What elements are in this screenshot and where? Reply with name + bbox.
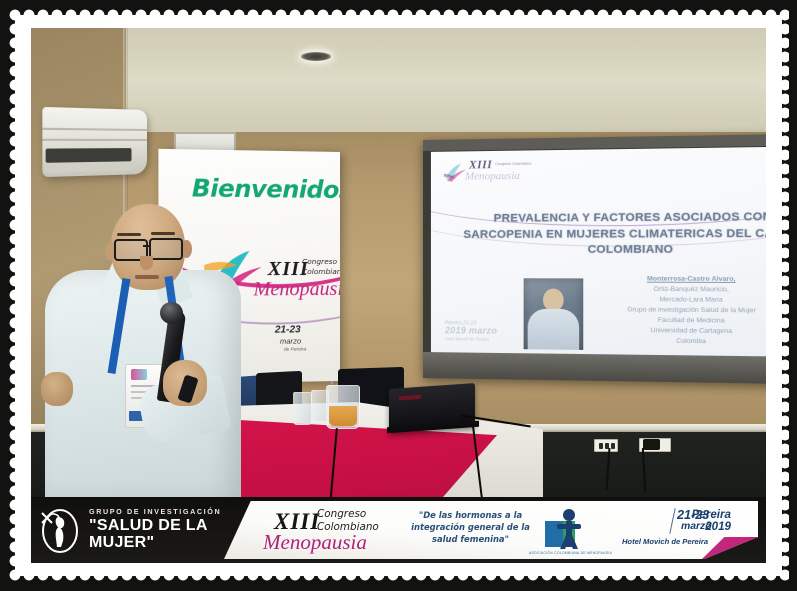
- laptop: [389, 383, 475, 433]
- ceiling-light-icon: [301, 52, 331, 61]
- banner-month: marzo: [280, 336, 301, 345]
- event-banner: GRUPO DE INVESTIGACIÓN "SALUD DE LA MUJE…: [31, 497, 766, 563]
- association-logo-icon: [541, 507, 587, 551]
- slide-date-year: 2019 marzo: [445, 325, 536, 336]
- juice-pitcher: [326, 385, 360, 429]
- slide-authors: Monterrosa-Castro Alvaro, Ortiz-Banquéz …: [583, 274, 766, 348]
- author-affiliation: Colombia: [583, 336, 766, 349]
- speaker-eyebrow: [117, 233, 141, 236]
- speaker-eyebrow: [151, 232, 175, 235]
- slide-logo-menopausia: Menopausia: [465, 170, 520, 183]
- event-month: marzo: [681, 521, 712, 532]
- speaker: [45, 204, 241, 504]
- conference-photo: Bienvenidos XIII CongresoColombiano Meno…: [31, 28, 766, 563]
- banner-menopausia: Menopausia: [254, 278, 340, 301]
- presentation-slide: XIII Congreso Colombiano Menopausia PREV…: [431, 147, 766, 357]
- slide-logo: XIII Congreso Colombiano Menopausia: [443, 157, 560, 189]
- wall-outlet: [594, 439, 618, 452]
- ac-vent-icon: [46, 148, 132, 163]
- banner-slogan: "De las hormonas a la integración genera…: [404, 510, 537, 546]
- projection-screen: XIII Congreso Colombiano Menopausia PREV…: [423, 134, 766, 384]
- research-group-block: GRUPO DE INVESTIGACIÓN "SALUD DE LA MUJE…: [37, 501, 262, 559]
- eyeglasses-icon: [149, 238, 183, 260]
- drinking-glass: [293, 392, 312, 425]
- event-venue: Hotel Movich de Pereira: [599, 537, 731, 546]
- event-location-block: Pereira 2019: [606, 509, 731, 533]
- event-year: 2019: [606, 521, 731, 533]
- slide-title: PREVALENCIA Y FACTORES ASOCIADOS CON SAR…: [461, 210, 766, 260]
- banner-congress: CongresoColombiano: [302, 257, 340, 276]
- event-days: 21-23: [677, 508, 709, 522]
- speaker-hand: [41, 372, 73, 406]
- banner-menopausia: Menopausia: [263, 530, 367, 555]
- slide-logo-congress: Congreso Colombiano: [495, 162, 531, 168]
- photo-frame: Bienvenidos XIII CongresoColombiano Meno…: [0, 0, 797, 591]
- association-caption: ASOCIACIÓN COLOMBIANA DE MENOPAUSIA: [529, 551, 612, 555]
- eyeglasses-bridge: [143, 245, 151, 247]
- banner-dates: 21-23: [275, 324, 301, 335]
- woman-figure-logo-icon: [37, 507, 81, 553]
- air-conditioner-unit: [42, 107, 147, 177]
- slide-date-venue: Hotel Movich de Pereira: [445, 336, 536, 342]
- research-group-label: GRUPO DE INVESTIGACIÓN: [89, 508, 262, 516]
- banner-place: de Pereira: [284, 347, 306, 352]
- speaker-mouth: [135, 275, 159, 279]
- research-group-name: "SALUD DE LA MUJER": [89, 517, 262, 552]
- banner-welcome-text: Bienvenidos: [192, 174, 340, 204]
- power-plug: [643, 439, 660, 450]
- slide-event-info: Pereira 21-23 2019 marzo Hotel Movich de…: [445, 320, 536, 342]
- menopausia-logo-mark: [443, 161, 467, 183]
- speaker-nose: [140, 256, 153, 270]
